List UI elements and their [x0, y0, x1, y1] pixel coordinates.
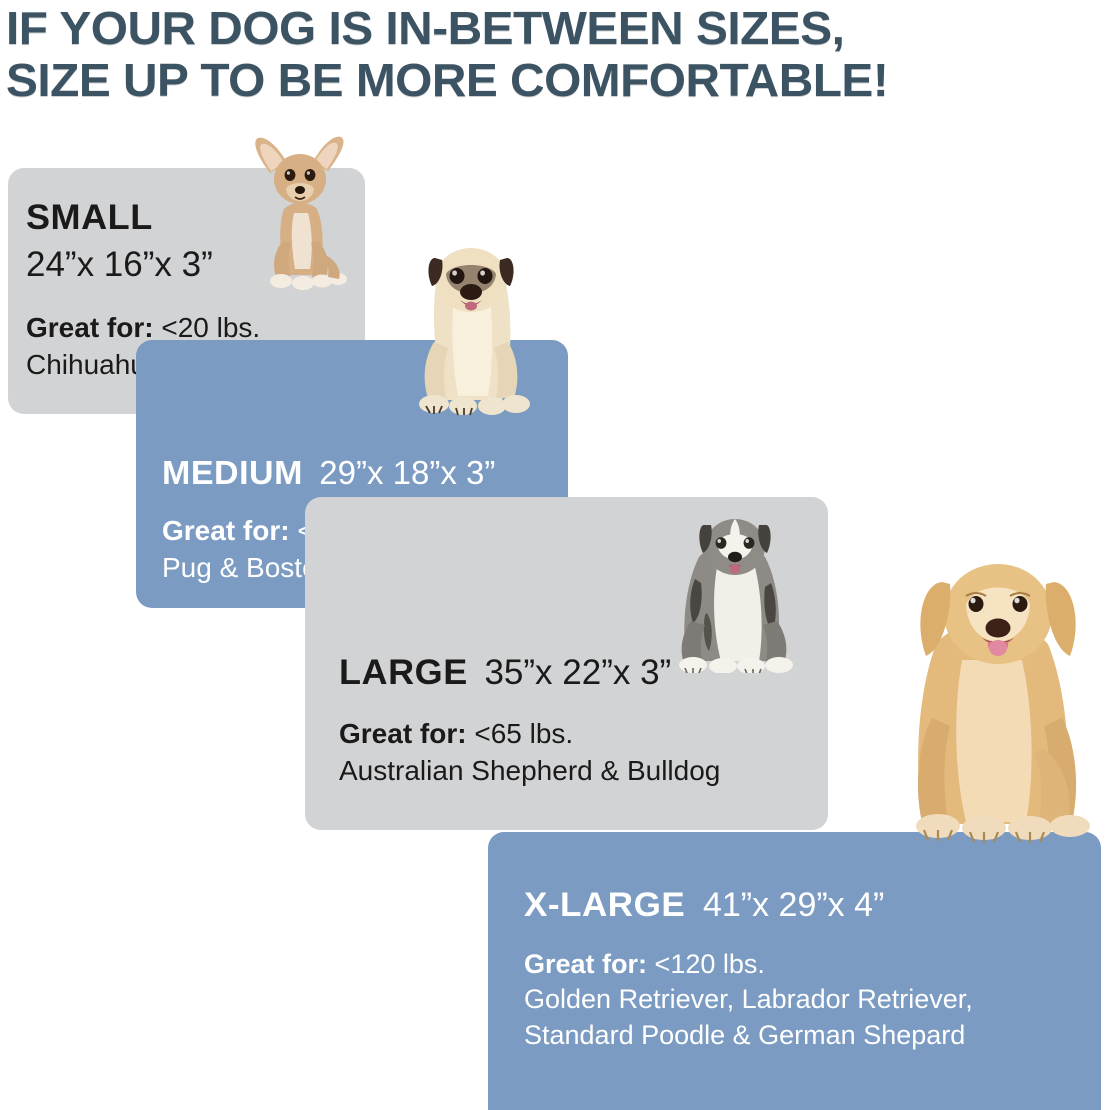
- size-xlarge-weight: <120 lbs.: [655, 949, 765, 979]
- size-small-name: SMALL: [26, 200, 153, 237]
- size-medium-name: MEDIUM: [162, 456, 303, 491]
- australian-shepherd-photo: [655, 513, 815, 673]
- size-xlarge-heading: X-LARGE 41”x 29”x 4”: [524, 888, 1101, 924]
- size-large-dimensions: 35”x 22”x 3”: [484, 653, 671, 692]
- size-medium-heading: MEDIUM 29”x 18”x 3”: [162, 456, 568, 491]
- size-large-great-for: Great for: <65 lbs.: [339, 716, 828, 751]
- size-xlarge-breeds-line-1: Golden Retriever, Labrador Retriever,: [524, 983, 1101, 1017]
- page-title: IF YOUR DOG IS IN-BETWEEN SIZES, SIZE UP…: [6, 2, 1111, 106]
- size-medium-great-for-label: Great for:: [162, 515, 290, 546]
- size-small-great-for-label: Great for:: [26, 312, 154, 343]
- size-xlarge-breeds-line-2: Standard Poodle & German Shepard: [524, 1019, 1101, 1053]
- size-small-weight: <20 lbs.: [161, 312, 260, 343]
- size-large-name: LARGE: [339, 655, 468, 692]
- size-chart-infographic: IF YOUR DOG IS IN-BETWEEN SIZES, SIZE UP…: [0, 0, 1111, 1110]
- chihuahua-photo: [250, 133, 352, 295]
- pug-photo: [406, 238, 536, 418]
- size-large-breeds: Australian Shepherd & Bulldog: [339, 753, 828, 788]
- size-xlarge-great-for: Great for: <120 lbs.: [524, 948, 1101, 982]
- size-card-xlarge-body: X-LARGE 41”x 29”x 4” Great for: <120 lbs…: [488, 832, 1101, 1053]
- size-xlarge-name: X-LARGE: [524, 888, 685, 924]
- headline-line-2: SIZE UP TO BE MORE COMFORTABLE!: [6, 54, 1111, 106]
- golden-retriever-photo: [892, 548, 1104, 843]
- size-xlarge-great-for-label: Great for:: [524, 949, 647, 979]
- size-xlarge-dimensions: 41”x 29”x 4”: [703, 886, 884, 924]
- size-large-weight: <65 lbs.: [474, 718, 573, 749]
- headline-line-1: IF YOUR DOG IS IN-BETWEEN SIZES,: [6, 2, 844, 54]
- size-card-xlarge: X-LARGE 41”x 29”x 4” Great for: <120 lbs…: [488, 832, 1101, 1110]
- size-medium-dimensions: 29”x 18”x 3”: [319, 454, 495, 491]
- size-large-great-for-label: Great for:: [339, 718, 467, 749]
